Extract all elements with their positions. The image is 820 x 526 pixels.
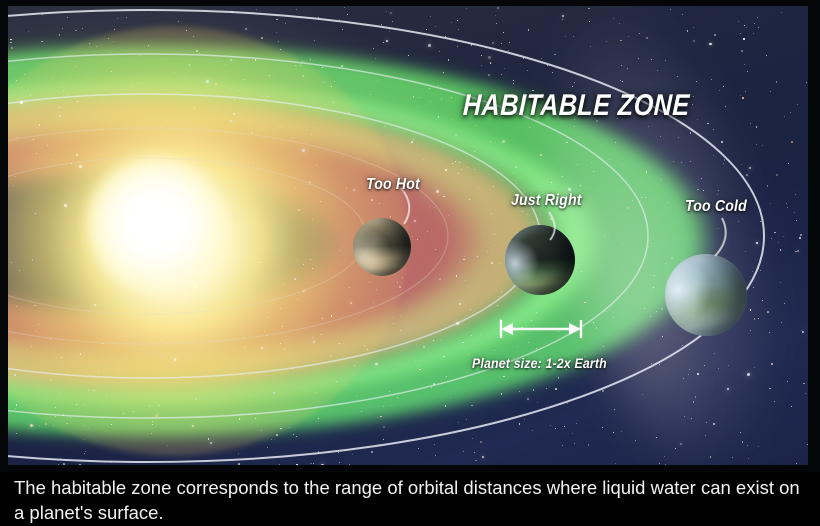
planet-size-annotation: Planet size: 1-2x Earth xyxy=(472,355,607,371)
habitable-zone-figure: HABITABLE ZONE Too Hot Just Right Too Co… xyxy=(0,0,820,526)
zone-label-just-right: Just Right xyxy=(511,192,582,210)
planet-size-arrow xyxy=(496,316,592,344)
label-leader-lines xyxy=(8,6,808,465)
page-title: HABITABLE ZONE xyxy=(462,89,690,123)
figure-caption: The habitable zone corresponds to the ra… xyxy=(0,472,820,526)
zone-label-too-hot: Too Hot xyxy=(366,176,420,194)
image-frame: HABITABLE ZONE Too Hot Just Right Too Co… xyxy=(0,0,820,472)
zone-label-too-cold: Too Cold xyxy=(685,198,747,216)
illustration-canvas: HABITABLE ZONE Too Hot Just Right Too Co… xyxy=(8,6,808,465)
